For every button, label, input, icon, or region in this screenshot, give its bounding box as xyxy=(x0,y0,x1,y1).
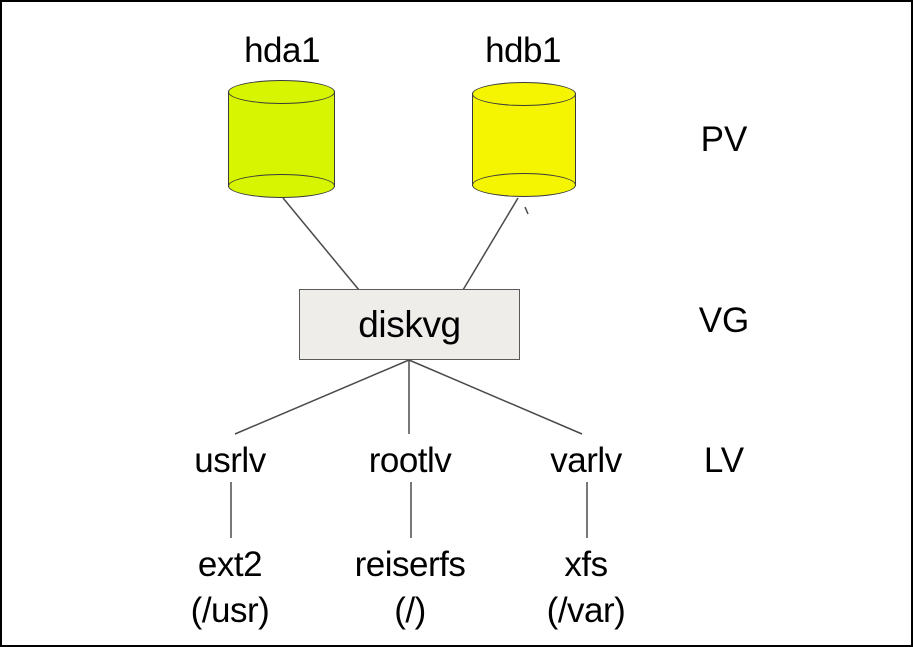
volume-group-box-diskvg[interactable]: diskvg xyxy=(299,289,520,360)
mountpoint-label-usrlv: (/usr) xyxy=(191,593,270,628)
tier-label-vg: VG xyxy=(699,303,750,338)
filesystem-label-rootlv: reiserfs xyxy=(355,547,466,582)
cylinder-bottom-ellipse xyxy=(472,173,576,197)
physical-volume-cylinder-hda1[interactable] xyxy=(228,80,335,198)
physical-volume-label-hda1: hda1 xyxy=(244,33,320,68)
logical-volume-label-usrlv: usrlv xyxy=(194,443,265,478)
filesystem-label-usrlv: ext2 xyxy=(198,547,262,582)
lvm-diagram-canvas: hda1 hdb1 diskvg usrlv ext2 (/usr) rootl… xyxy=(0,0,913,647)
cylinder-top-ellipse xyxy=(228,80,335,104)
stray-tick-mark xyxy=(525,207,528,214)
physical-volume-label-hdb1: hdb1 xyxy=(485,33,561,68)
cylinder-body xyxy=(228,91,335,187)
mountpoint-label-varlv: (/var) xyxy=(547,593,626,628)
physical-volume-cylinder-hdb1[interactable] xyxy=(472,82,576,197)
connector-diskvg-to-usrlv xyxy=(235,360,409,434)
cylinder-top-ellipse xyxy=(472,82,576,106)
logical-volume-label-rootlv: rootlv xyxy=(369,443,452,478)
logical-volume-label-varlv: varlv xyxy=(550,443,621,478)
mountpoint-label-rootlv: (/) xyxy=(394,593,426,628)
connector-hdb1-to-diskvg xyxy=(463,198,518,290)
filesystem-label-varlv: xfs xyxy=(564,547,607,582)
connector-hda1-to-diskvg xyxy=(283,198,359,290)
tier-label-pv: PV xyxy=(701,122,748,157)
connector-diskvg-to-varlv xyxy=(409,360,582,434)
tier-label-lv: LV xyxy=(704,443,744,478)
cylinder-bottom-ellipse xyxy=(228,174,335,198)
volume-group-label: diskvg xyxy=(358,306,460,343)
